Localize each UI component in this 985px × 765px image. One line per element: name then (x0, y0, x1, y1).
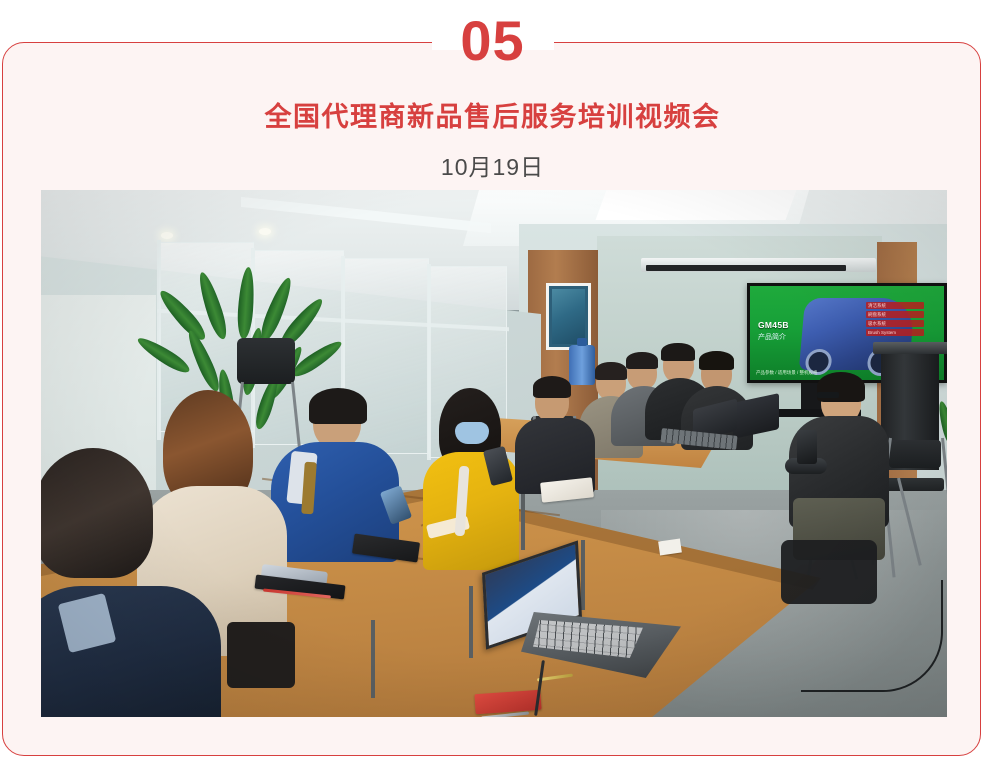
ceiling-skylight (596, 190, 797, 220)
product-footer-text: 产品参数 / 适用场景 / 整机规格 (756, 370, 818, 376)
backpack (781, 540, 877, 604)
product-callout-list: 清洁系统 刷盘系统 吸水系统 Brush System (866, 302, 924, 338)
product-callout: Brush System (866, 329, 924, 336)
photo-scene: GM45B 产品简介 清洁系统 刷盘系统 吸水系统 Brush System 产… (41, 190, 947, 717)
projector-screen-roller (641, 258, 876, 272)
window-mullion (427, 264, 431, 460)
product-subtitle-label: 产品简介 (758, 332, 786, 342)
product-model-label: GM45B (758, 320, 789, 330)
table-leg (521, 490, 525, 550)
ceiling-light (259, 228, 271, 235)
face-mask (455, 422, 489, 444)
person-lower (227, 622, 295, 688)
water-bottle (569, 345, 595, 385)
product-callout: 吸水系统 (866, 320, 924, 327)
event-photo: GM45B 产品简介 清洁系统 刷盘系统 吸水系统 Brush System 产… (41, 190, 947, 717)
section-number-badge: 05 (0, 8, 985, 74)
window-mullion (157, 240, 161, 440)
conference-mic-unit (797, 430, 817, 464)
table-leg (469, 586, 473, 658)
ceiling-light (161, 232, 173, 239)
page-root: 05 全国代理商新品售后服务培训视频会 10月19日 (0, 0, 985, 765)
lectern-top (873, 342, 947, 354)
event-date: 10月19日 (0, 152, 985, 182)
event-title: 全国代理商新品售后服务培训视频会 (0, 100, 985, 134)
table-leg (371, 620, 375, 698)
product-callout: 清洁系统 (866, 302, 924, 309)
table-leg (581, 540, 585, 610)
product-callout: 刷盘系统 (866, 311, 924, 318)
glasses-icon (817, 392, 839, 398)
